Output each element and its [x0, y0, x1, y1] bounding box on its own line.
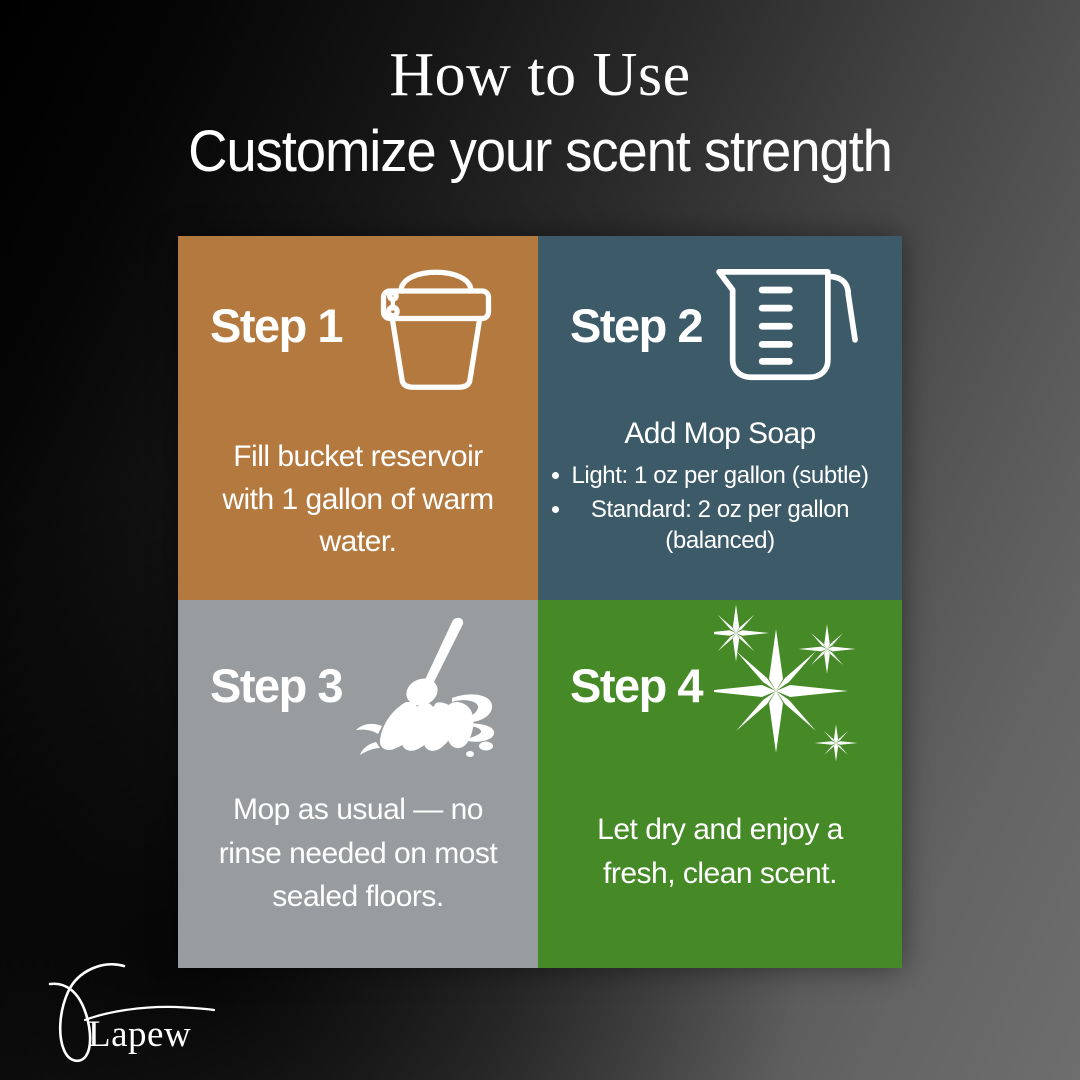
- brand-logo[interactable]: Lapew: [28, 954, 248, 1072]
- step-4-label: Step 4: [570, 662, 702, 709]
- list-item: Light: 1 oz per gallon (subtle): [538, 460, 902, 492]
- list-item-label: Standard: 2 oz per gallon (balanced): [591, 496, 849, 555]
- header: How to Use Customize your scent strength: [0, 44, 1080, 183]
- bullet-dot-icon: [552, 472, 559, 479]
- sparkles-icon: [714, 608, 894, 778]
- step-2-content: Add Mop Soap Light: 1 oz per gallon (sub…: [538, 416, 902, 559]
- poster-stage: How to Use Customize your scent strength…: [0, 0, 1080, 1080]
- step-card-4: Step 4: [538, 600, 902, 968]
- step-2-bullet-list: Light: 1 oz per gallon (subtle) Standard…: [538, 460, 902, 557]
- step-card-2: Step 2 Add Mop Soap: [538, 236, 902, 600]
- bucket-icon: [356, 246, 516, 396]
- step-card-3: Step 3: [178, 600, 538, 968]
- step-3-label: Step 3: [210, 662, 342, 709]
- measuring-cup-icon: [706, 250, 884, 398]
- list-item-label: Light: 1 oz per gallon (subtle): [571, 462, 868, 489]
- step-card-1: Step 1 Fill bucket reservoir with 1 gall…: [178, 236, 538, 600]
- step-4-body: Let dry and enjoy a fresh, clean scent.: [538, 808, 902, 897]
- list-item: Standard: 2 oz per gallon (balanced): [538, 494, 902, 557]
- mop-icon: [334, 606, 514, 766]
- logo-wordmark: Lapew: [88, 1013, 191, 1056]
- page-title: How to Use: [0, 44, 1080, 106]
- step-3-body: Mop as usual — no rinse needed on most s…: [178, 788, 538, 919]
- step-1-body: Fill bucket reservoir with 1 gallon of w…: [178, 436, 538, 564]
- step-2-heading: Add Mop Soap: [538, 416, 902, 452]
- step-2-label: Step 2: [570, 302, 702, 349]
- page-subtitle: Customize your scent strength: [32, 122, 1047, 183]
- step-1-label: Step 1: [210, 302, 342, 349]
- bullet-dot-icon: [552, 506, 559, 513]
- steps-grid: Step 1 Fill bucket reservoir with 1 gall…: [178, 236, 902, 968]
